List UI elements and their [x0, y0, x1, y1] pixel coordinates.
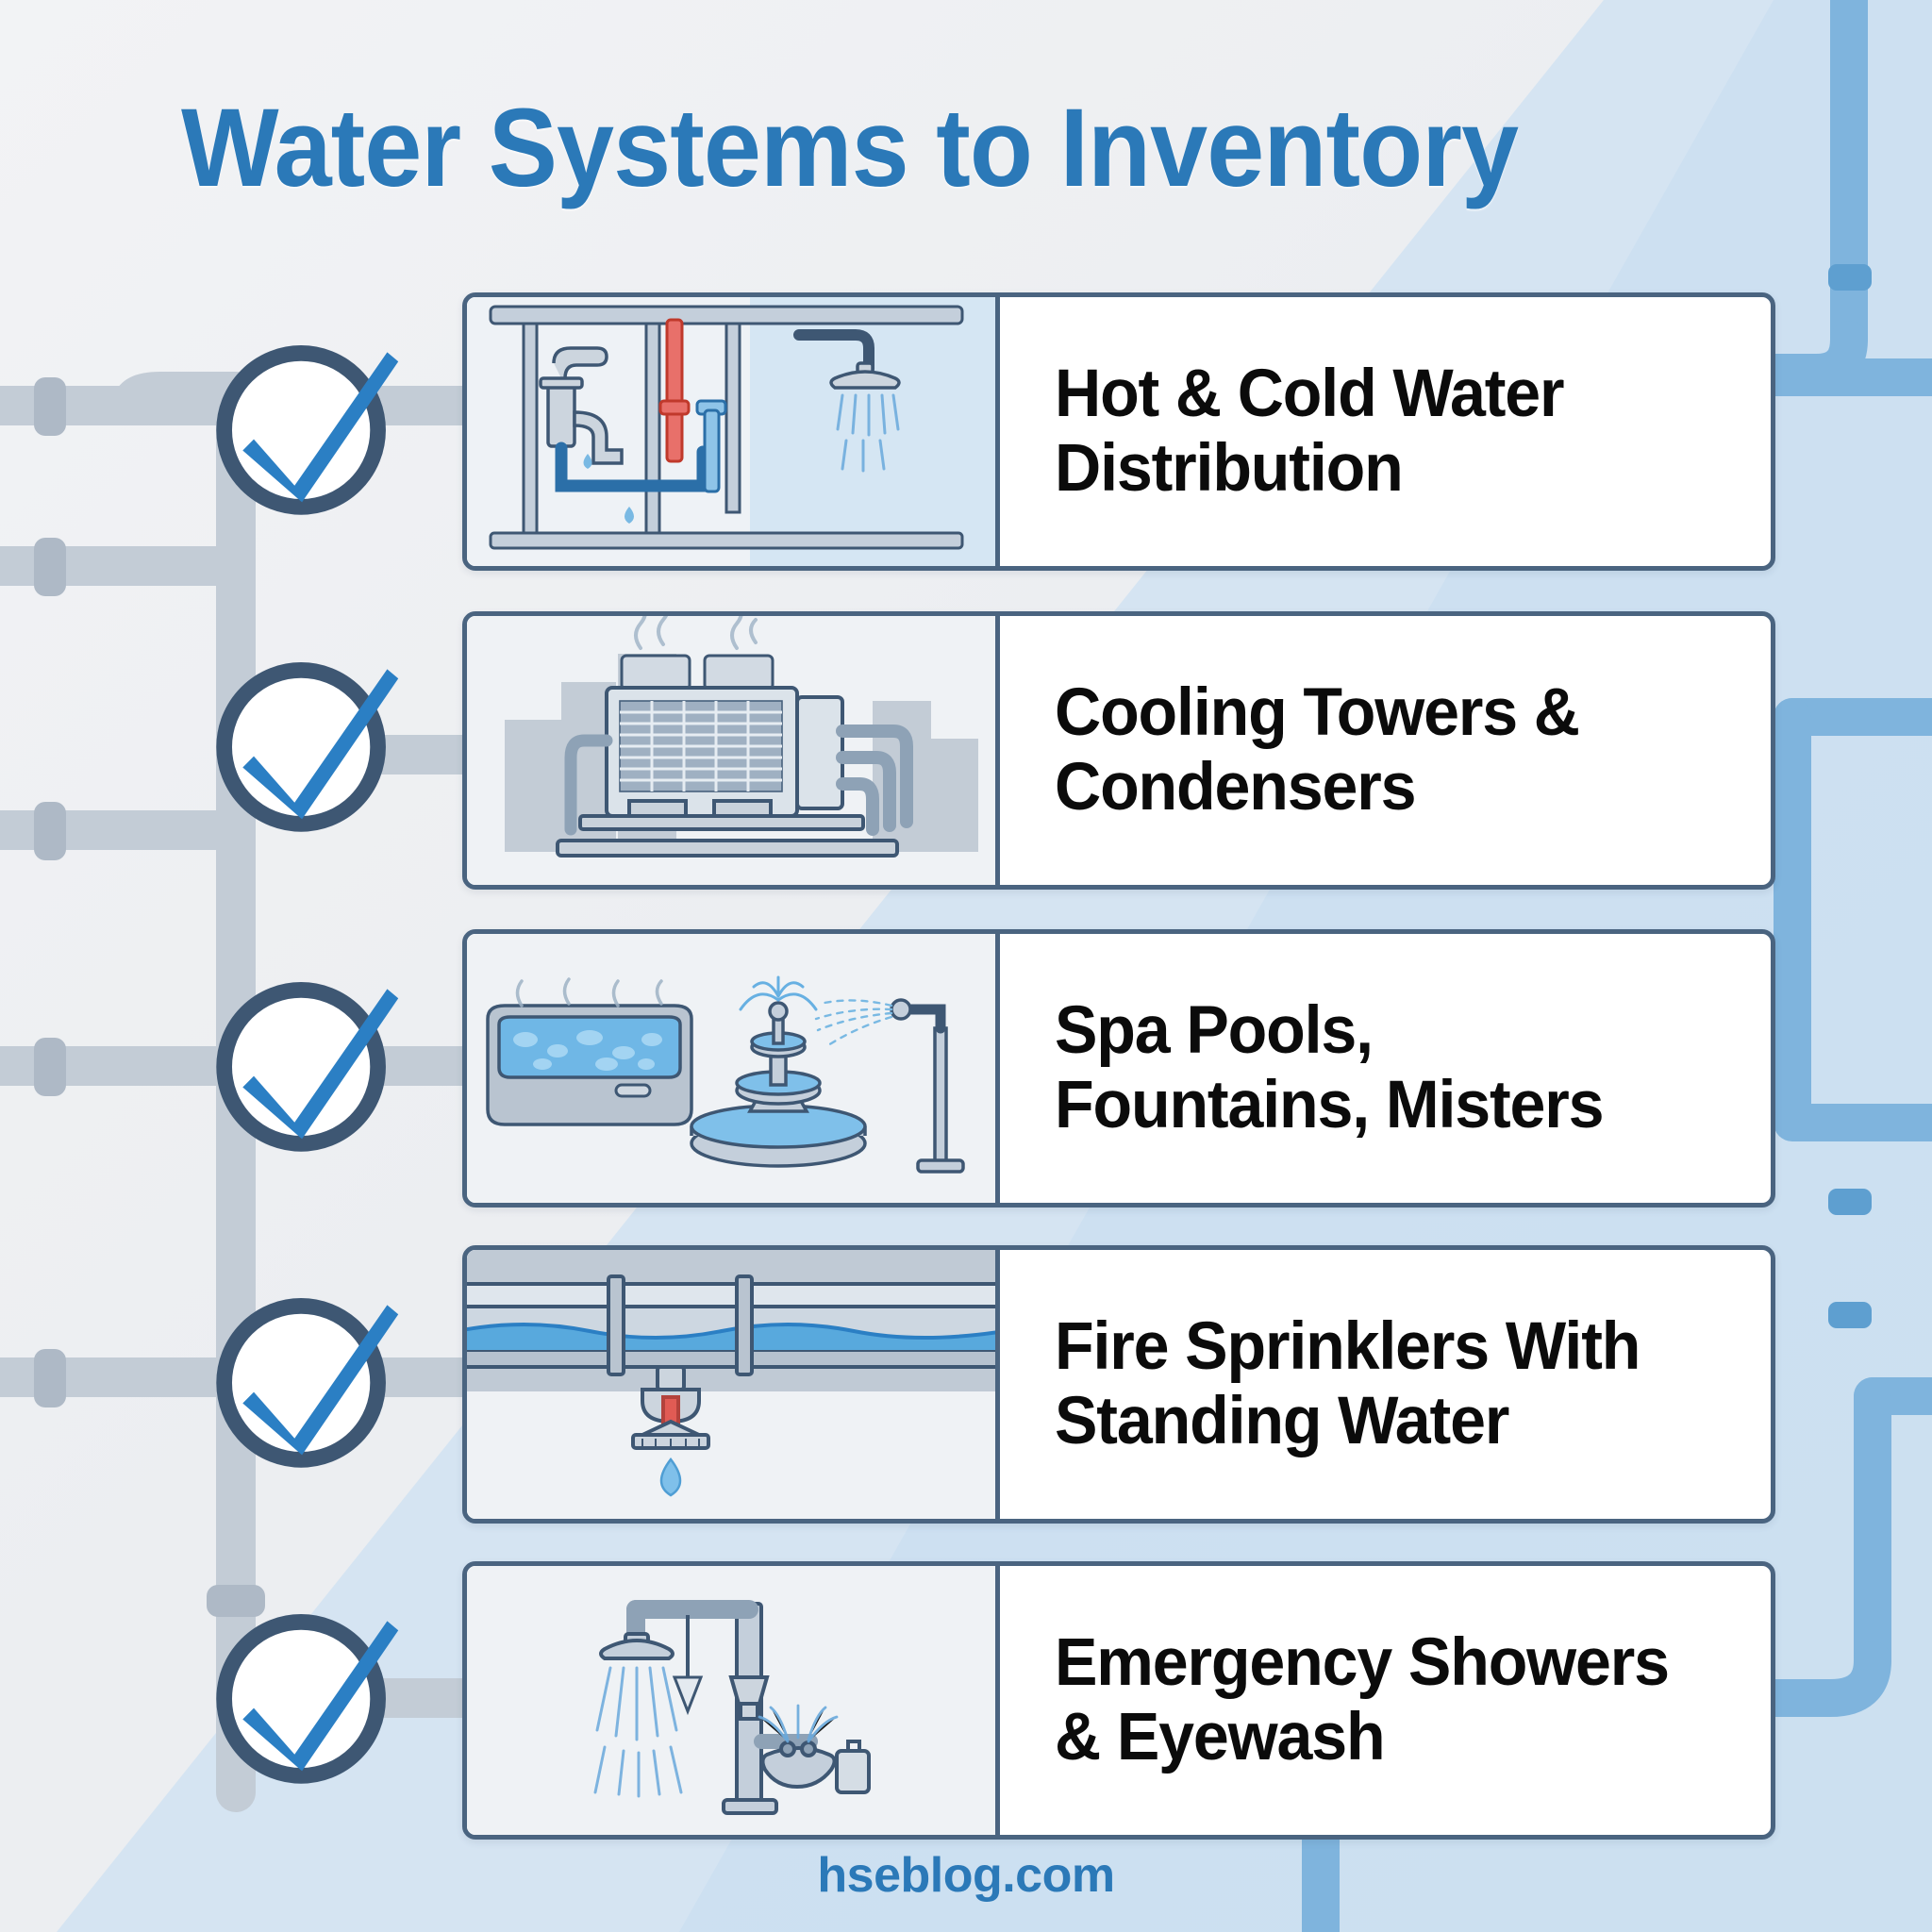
card-text-area: Hot & Cold WaterDistribution: [1000, 297, 1771, 566]
card-text-area: Cooling Towers &Condensers: [1000, 616, 1771, 885]
list-item: Hot & Cold WaterDistribution: [0, 292, 1932, 566]
checkmark-circle-icon: [206, 638, 409, 841]
checklist: Hot & Cold WaterDistribution: [0, 0, 1932, 1932]
list-item-label: Cooling Towers &Condensers: [1055, 676, 1579, 824]
spa-pool-fountain-mister-illustration: [467, 934, 1000, 1203]
infographic-canvas: Water Systems to Inventory: [0, 0, 1932, 1932]
list-item: Cooling Towers &Condensers: [0, 611, 1932, 885]
list-item-label: Fire Sprinklers WithStanding Water: [1055, 1310, 1640, 1457]
checkmark-circle-icon: [206, 321, 409, 525]
checkmark-circle-icon: [206, 1590, 409, 1793]
checkmark-circle-icon: [206, 958, 409, 1161]
fire-sprinkler-standing-water-illustration: [467, 1250, 1000, 1519]
list-item: Fire Sprinklers WithStanding Water: [0, 1245, 1932, 1519]
card-text-area: Spa Pools,Fountains, Misters: [1000, 934, 1771, 1203]
cooling-tower-condenser-illustration: [467, 616, 1000, 885]
hot-cold-water-distribution-illustration: [467, 297, 1000, 566]
footer-website[interactable]: hseblog.com: [0, 1847, 1932, 1904]
list-item: Emergency Showers& Eyewash: [0, 1561, 1932, 1835]
list-item-label: Hot & Cold WaterDistribution: [1055, 358, 1563, 505]
card[interactable]: Cooling Towers &Condensers: [462, 611, 1775, 890]
list-item: Spa Pools,Fountains, Misters: [0, 929, 1932, 1203]
list-item-label: Emergency Showers& Eyewash: [1055, 1626, 1669, 1774]
card[interactable]: Fire Sprinklers WithStanding Water: [462, 1245, 1775, 1524]
card[interactable]: Hot & Cold WaterDistribution: [462, 292, 1775, 571]
card[interactable]: Spa Pools,Fountains, Misters: [462, 929, 1775, 1207]
card[interactable]: Emergency Showers& Eyewash: [462, 1561, 1775, 1840]
card-text-area: Fire Sprinklers WithStanding Water: [1000, 1250, 1771, 1519]
card-text-area: Emergency Showers& Eyewash: [1000, 1566, 1771, 1835]
emergency-shower-eyewash-illustration: [467, 1566, 1000, 1835]
list-item-label: Spa Pools,Fountains, Misters: [1055, 994, 1603, 1141]
checkmark-circle-icon: [206, 1274, 409, 1477]
